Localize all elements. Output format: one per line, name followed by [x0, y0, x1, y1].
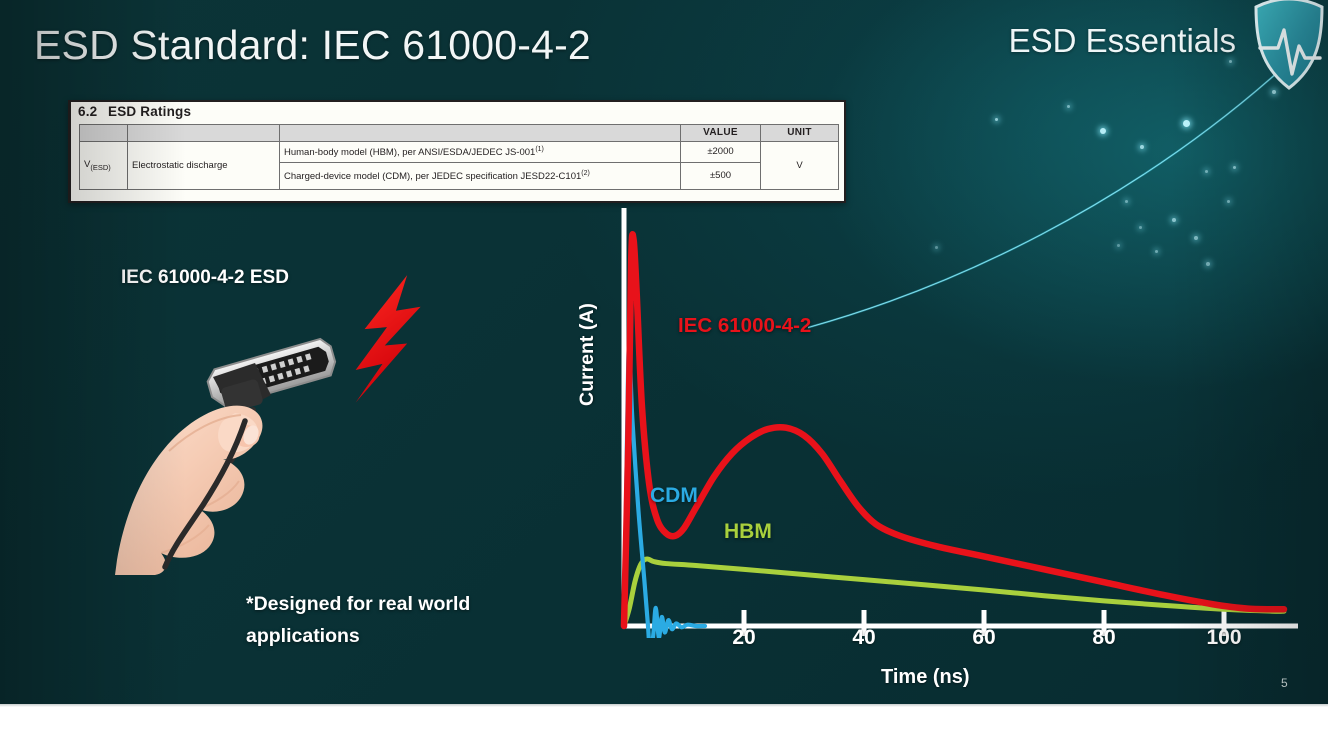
page-number: 5 — [1281, 676, 1288, 690]
header-unit: UNIT — [761, 125, 839, 142]
cell-value-hbm: ±2000 — [681, 142, 761, 163]
header-blank-parameter — [128, 125, 280, 142]
cell-value-cdm: ±500 — [681, 163, 761, 190]
section-number: 6.2 — [78, 104, 108, 119]
chart-x-axis-label: Time (ns) — [881, 666, 970, 689]
datasheet-esd-ratings-table: 6.2ESD Ratings VALUE UNIT V(ESD) Electro… — [68, 100, 846, 203]
datasheet-section-heading: 6.2ESD Ratings — [78, 104, 191, 119]
footnote-2: (2) — [581, 170, 590, 177]
chart-y-axis-label: Current (A) — [576, 303, 599, 406]
esd-ratings-grid: VALUE UNIT V(ESD) Electrostatic discharg… — [79, 124, 839, 190]
header-value: VALUE — [681, 125, 761, 142]
chart-x-tick-40: 40 — [852, 626, 875, 650]
chart-plot-area — [578, 198, 1304, 638]
desc-text-cdm: Charged-device model (CDM), per JEDEC sp… — [284, 171, 581, 182]
illustration-note: *Designed for real world applications — [246, 589, 546, 652]
cell-parameter: Electrostatic discharge — [128, 142, 280, 190]
header-blank-desc — [280, 125, 681, 142]
cell-symbol: V(ESD) — [80, 142, 128, 190]
slide-root: ESD Standard: IEC 61000-4-2 ESD Essentia… — [0, 0, 1328, 746]
chart-annotation-cdm: CDM — [650, 484, 698, 508]
shield-pulse-icon — [1252, 0, 1326, 92]
hand-holding-hdmi-connector-icon — [95, 255, 435, 575]
page-title: ESD Standard: IEC 61000-4-2 — [34, 22, 591, 69]
chart-axes — [624, 208, 1298, 626]
chart-annotation-iec: IEC 61000-4-2 — [678, 314, 811, 338]
esd-waveform-chart: Current (A) Time (ns) IEC 61000-4-2 CDM … — [578, 198, 1304, 698]
desc-text-hbm: Human-body model (HBM), per ANSI/ESDA/JE… — [284, 147, 535, 158]
footnote-1: (1) — [535, 146, 544, 153]
slide-background: ESD Standard: IEC 61000-4-2 ESD Essentia… — [0, 0, 1328, 704]
chart-x-tick-100: 100 — [1206, 626, 1241, 650]
brand-label: ESD Essentials — [1009, 22, 1236, 60]
slide-footer: TEXAS INSTRUMENTS — [0, 704, 1328, 746]
chart-series-hbm — [624, 559, 1284, 626]
lightning-bolt-icon — [356, 275, 421, 402]
chart-x-tick-60: 60 — [972, 626, 995, 650]
table-header-row: VALUE UNIT — [80, 125, 839, 142]
cell-unit: V — [761, 142, 839, 190]
section-title: ESD Ratings — [108, 104, 191, 119]
symbol-subscript: (ESD) — [90, 163, 110, 172]
cell-description-cdm: Charged-device model (CDM), per JEDEC sp… — [280, 163, 681, 190]
header-blank-symbol — [80, 125, 128, 142]
chart-x-tick-80: 80 — [1092, 626, 1115, 650]
chart-annotation-hbm: HBM — [724, 520, 772, 544]
chart-x-tick-20: 20 — [732, 626, 755, 650]
table-row: V(ESD) Electrostatic discharge Human-bod… — [80, 142, 839, 163]
cell-description-hbm: Human-body model (HBM), per ANSI/ESDA/JE… — [280, 142, 681, 163]
